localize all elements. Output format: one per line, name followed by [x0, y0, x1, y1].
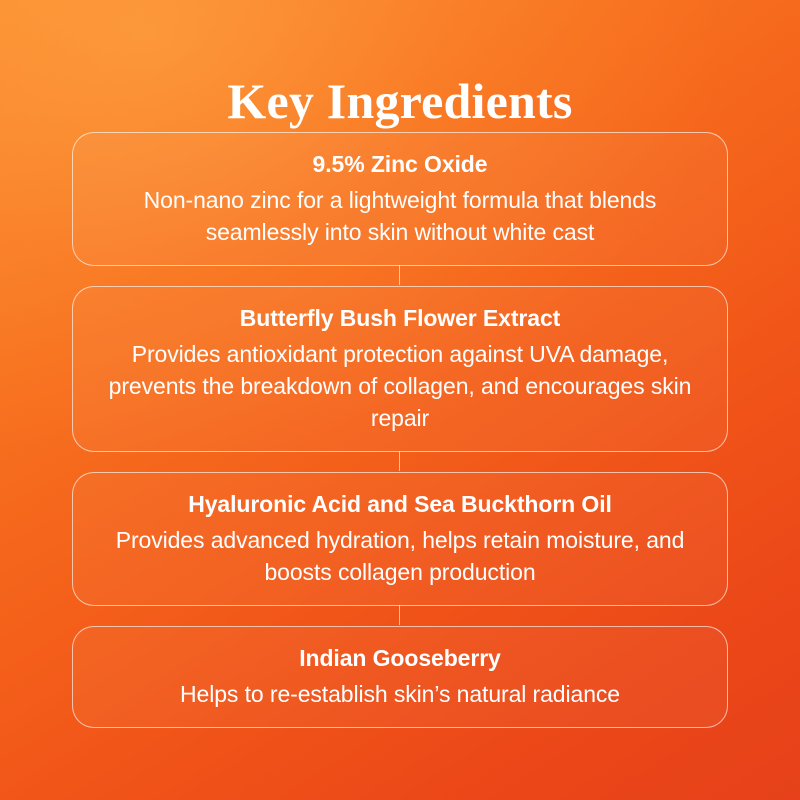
- ingredient-card: Butterfly Bush Flower Extract Provides a…: [72, 286, 728, 452]
- ingredient-name: Butterfly Bush Flower Extract: [107, 301, 693, 335]
- card-connector-line: [399, 605, 400, 625]
- ingredient-card: Indian Gooseberry Helps to re-establish …: [72, 626, 728, 728]
- page-title: Key Ingredients: [0, 72, 800, 130]
- card-connector-line: [399, 451, 400, 471]
- ingredient-card-list: 9.5% Zinc Oxide Non-nano zinc for a ligh…: [72, 132, 728, 728]
- poster-content: Key Ingredients 9.5% Zinc Oxide Non-nano…: [0, 0, 800, 800]
- ingredient-card: 9.5% Zinc Oxide Non-nano zinc for a ligh…: [72, 132, 728, 266]
- ingredient-card: Hyaluronic Acid and Sea Buckthorn Oil Pr…: [72, 472, 728, 606]
- ingredients-poster: Key Ingredients 9.5% Zinc Oxide Non-nano…: [0, 0, 800, 800]
- card-connector-line: [399, 265, 400, 285]
- ingredient-name: Hyaluronic Acid and Sea Buckthorn Oil: [107, 487, 693, 521]
- ingredient-name: 9.5% Zinc Oxide: [107, 147, 693, 181]
- ingredient-description: Helps to re-establish skin’s natural rad…: [107, 678, 693, 710]
- ingredient-description: Non-nano zinc for a lightweight formula …: [107, 184, 693, 248]
- ingredient-name: Indian Gooseberry: [107, 641, 693, 675]
- ingredient-description: Provides advanced hydration, helps retai…: [107, 524, 693, 588]
- ingredient-description: Provides antioxidant protection against …: [107, 338, 693, 434]
